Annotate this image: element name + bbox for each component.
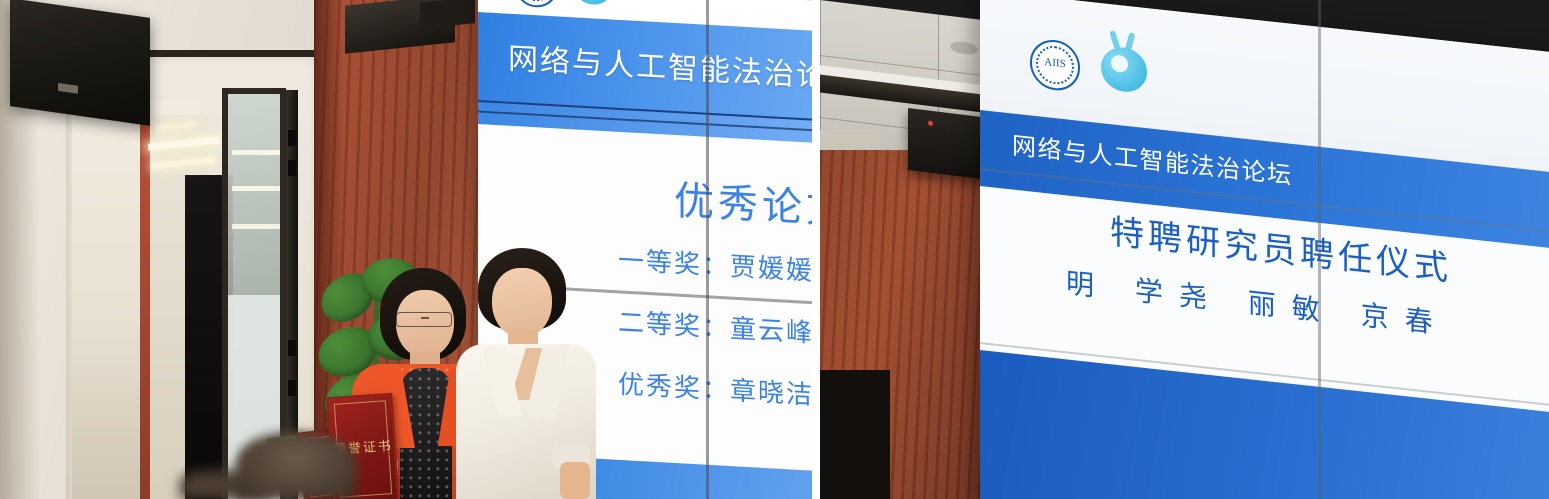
woman-white-blazer <box>456 248 596 499</box>
slide-heading: 优秀论文 <box>674 168 812 236</box>
aiis-logo-text: AIIS <box>1032 55 1078 72</box>
institute-emblem-icon <box>1096 29 1150 97</box>
face <box>492 268 552 338</box>
projector-led-icon <box>928 120 933 126</box>
right-photo: AIIS 网络与人工智能法治论坛 特聘研究员聘任仪式 明 学尧 丽敏 京春 西安… <box>820 0 1549 499</box>
audience-head-foreground <box>236 432 356 499</box>
dark-corner <box>820 370 890 499</box>
screen-bezel-vertical <box>1318 0 1321 499</box>
left-photo: AIIS 网络与人工智能法治论坛 优秀论文 一等奖：贾媛媛 二等奖：童云峰 优秀… <box>0 0 812 499</box>
ceiling-speaker <box>10 0 150 126</box>
video-wall-screen: AIIS 网络与人工智能法治论坛 特聘研究员聘任仪式 明 学尧 丽敏 京春 <box>980 0 1549 499</box>
photo-collage: AIIS 网络与人工智能法治论坛 优秀论文 一等奖：贾媛媛 二等奖：童云峰 优秀… <box>0 0 1549 499</box>
door-red-strip <box>140 118 150 499</box>
screen-bezel-vertical <box>706 0 709 499</box>
photo-divider <box>812 0 820 499</box>
forearm <box>560 462 590 499</box>
eyeglasses-icon <box>396 312 452 327</box>
